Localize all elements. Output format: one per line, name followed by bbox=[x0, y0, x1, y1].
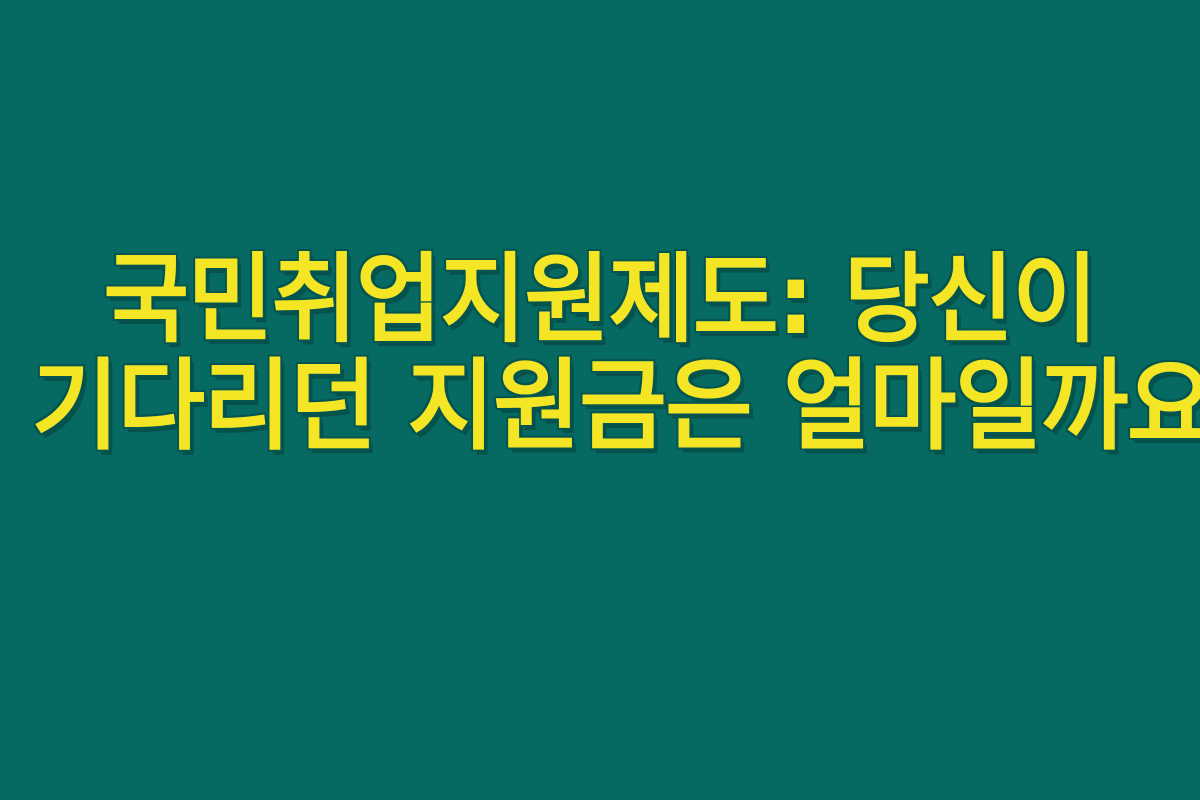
headline-line-2: 기다리던 지원금은 얼마일까요? bbox=[32, 353, 1169, 460]
headline-block: 국민취업지원제도: 당신이 기다리던 지원금은 얼마일까요? bbox=[0, 246, 1200, 460]
poster-canvas: 국민취업지원제도: 당신이 기다리던 지원금은 얼마일까요? bbox=[0, 0, 1200, 800]
headline-line-1: 국민취업지원제도: 당신이 bbox=[32, 246, 1169, 353]
